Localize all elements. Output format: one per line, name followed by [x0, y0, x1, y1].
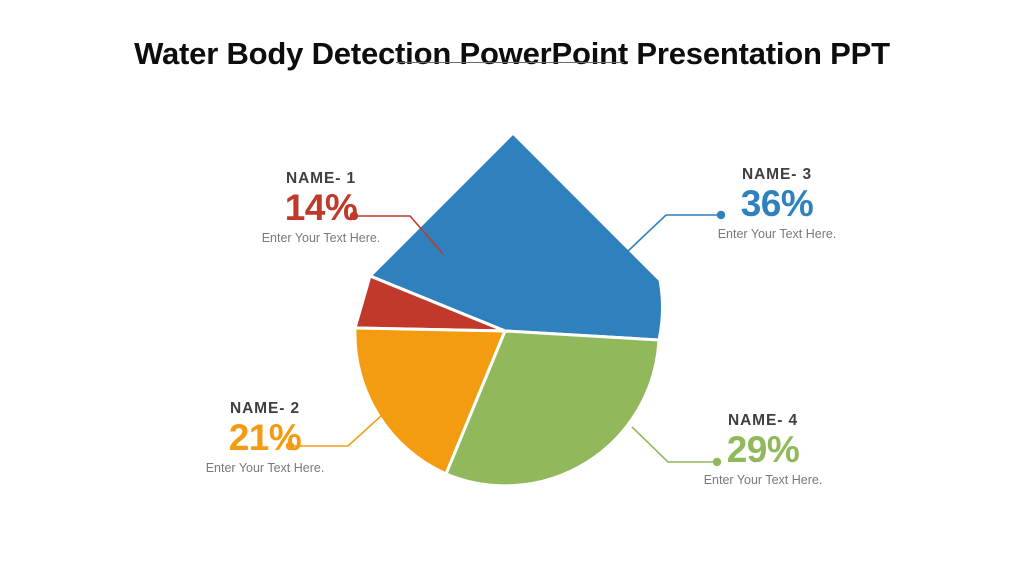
- callout-name-3-percent: 36%: [662, 185, 892, 224]
- callout-name-1: NAME- 1 14% Enter Your Text Here.: [206, 170, 436, 246]
- callout-name-4-subtext: Enter Your Text Here.: [648, 473, 878, 488]
- callout-name-2: NAME- 2 21% Enter Your Text Here.: [150, 400, 380, 476]
- callout-name-3: NAME- 3 36% Enter Your Text Here.: [662, 166, 892, 242]
- callout-name-2-percent: 21%: [150, 419, 380, 458]
- chart-svg: [0, 0, 1024, 576]
- callout-name-2-subtext: Enter Your Text Here.: [150, 461, 380, 476]
- callout-name-3-title: NAME- 3: [662, 166, 892, 183]
- water-drop-pie-chart: [0, 0, 1024, 576]
- callout-name-4: NAME- 4 29% Enter Your Text Here.: [648, 412, 878, 488]
- callout-name-1-subtext: Enter Your Text Here.: [206, 231, 436, 246]
- callout-name-2-title: NAME- 2: [150, 400, 380, 417]
- callout-name-4-title: NAME- 4: [648, 412, 878, 429]
- callout-name-3-subtext: Enter Your Text Here.: [662, 227, 892, 242]
- slide-canvas: Water Body Detection PowerPoint Presenta…: [0, 0, 1024, 576]
- callout-name-1-percent: 14%: [206, 189, 436, 228]
- callout-name-1-title: NAME- 1: [206, 170, 436, 187]
- callout-name-4-percent: 29%: [648, 431, 878, 470]
